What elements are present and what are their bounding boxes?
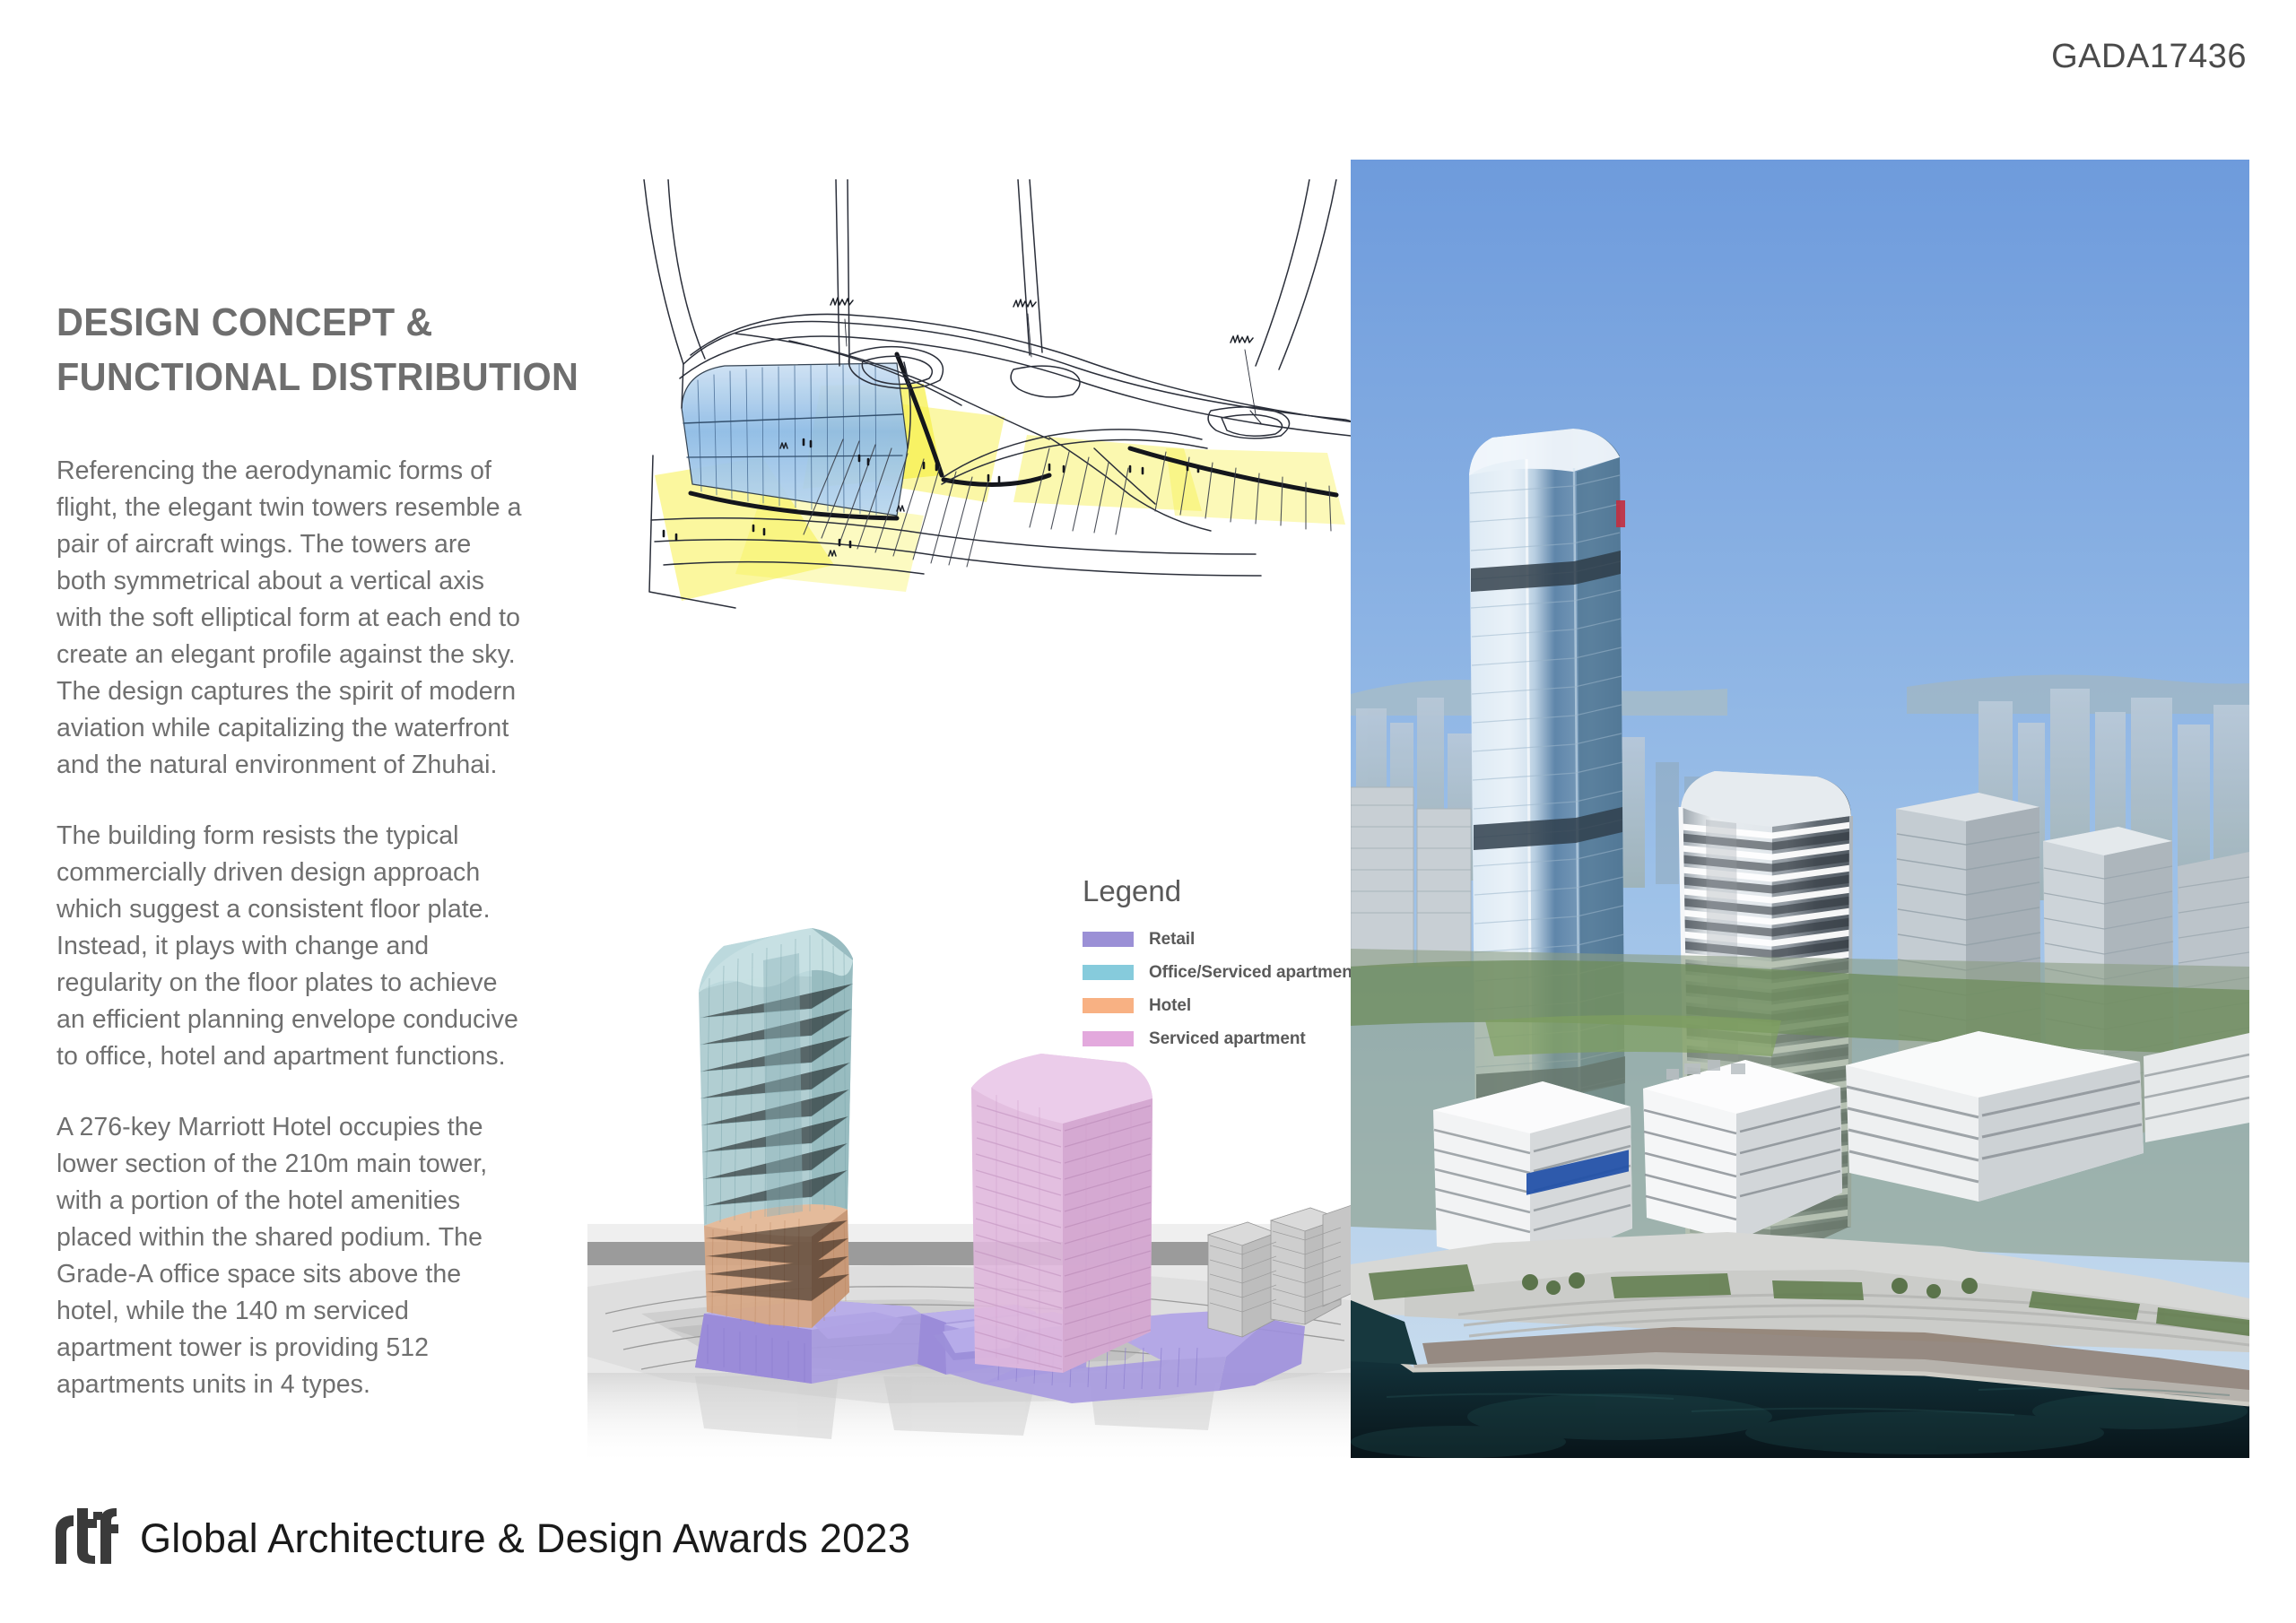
presentation-board: GADA17436 DESIGN CONCEPT & FUNCTIONAL DI… [0,0,2296,1623]
main-tower-mass [699,928,853,1329]
reference-code: GADA17436 [2051,38,2247,76]
legend-label-hotel: Hotel [1149,996,1191,1016]
apartment-tower-mass [971,1054,1152,1373]
legend-item-hotel: Hotel [1083,994,1352,1017]
award-title: Global Architecture & Design Awards 2023 [140,1515,910,1562]
project-photograph-image [1351,160,2249,1458]
legend-item-serviced-apartment: Serviced apartment [1083,1028,1352,1050]
legend-label-serviced-apartment: Serviced apartment [1149,1029,1306,1049]
project-photograph [1351,160,2249,1458]
legend-swatch-serviced-apartment [1083,1031,1134,1046]
legend-swatch-retail [1083,932,1134,947]
description-paragraph-2: The building form resists the typical co… [57,818,523,1075]
legend-label-retail: Retail [1149,930,1195,950]
description-paragraph-3: A 276-key Marriott Hotel occupies the lo… [57,1109,523,1403]
legend-swatch-office-serviced-apartment [1083,965,1134,980]
legend-label-office-serviced-apartment: Office/Serviced apartment [1149,963,1358,983]
concept-sketch [628,179,1399,681]
legend-swatch-hotel [1083,998,1134,1013]
page-title: DESIGN CONCEPT & FUNCTIONAL DISTRIBUTION [57,296,666,404]
description-column: Referencing the aerodynamic forms of fli… [57,453,523,1437]
legend-item-retail: Retail [1083,928,1352,950]
concept-sketch-drawing [628,179,1399,681]
legend-title: Legend [1083,874,1352,908]
footer: Global Architecture & Design Awards 2023 [54,1508,910,1569]
description-paragraph-1: Referencing the aerodynamic forms of fli… [57,453,523,784]
legend: Legend Retail Office/Serviced apartment … [1083,874,1352,1061]
page-title-line-1: DESIGN CONCEPT & [57,296,630,351]
rtf-logo-icon [54,1508,120,1569]
page-title-line-2: FUNCTIONAL DISTRIBUTION [57,351,630,405]
legend-item-office-serviced-apartment: Office/Serviced apartment [1083,961,1352,984]
